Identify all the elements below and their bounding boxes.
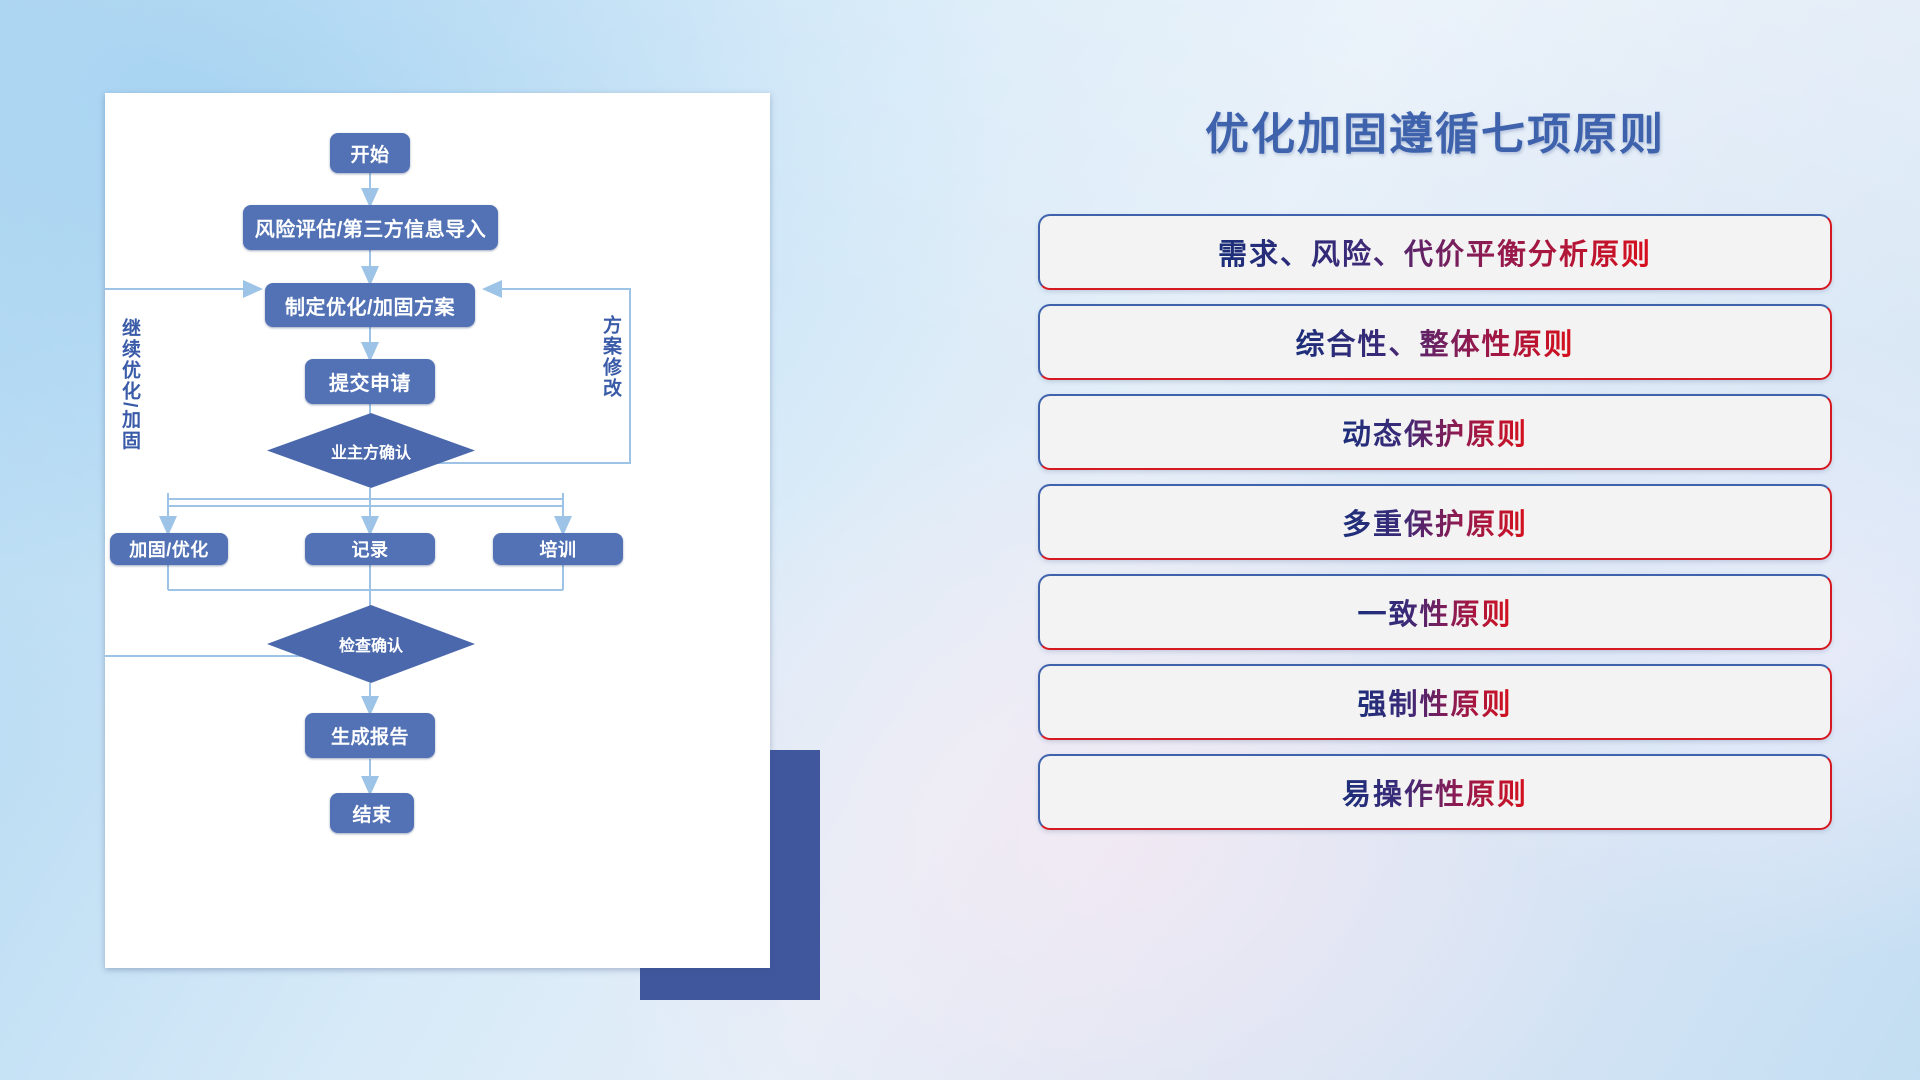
- flow-node-submit-application[interactable]: 提交申请: [305, 359, 435, 404]
- flow-node-label: 制定优化/加固方案: [285, 291, 455, 320]
- flow-node-label: 加固/优化: [129, 536, 209, 562]
- flow-node-training[interactable]: 培训: [493, 533, 623, 565]
- flow-node-start[interactable]: 开始: [330, 133, 410, 173]
- principles-section: 优化加固遵循七项原则 需求、风险、代价平衡分析原则 综合性、整体性原则 动态保护…: [1020, 80, 1850, 1030]
- flow-edge-label-plan-revision: 方案修改: [600, 315, 620, 399]
- principles-title: 优化加固遵循七项原则: [1020, 98, 1850, 162]
- principle-card-7[interactable]: 易操作性原则: [1038, 754, 1832, 830]
- flow-edge-label-continue-optimize: 继续优化/加固: [119, 318, 139, 451]
- principle-card-6[interactable]: 强制性原则: [1038, 664, 1832, 740]
- principle-card-label: 动态保护原则: [1342, 411, 1528, 453]
- flow-node-label: 记录: [352, 536, 389, 562]
- principle-card-label: 强制性原则: [1357, 681, 1512, 723]
- principle-card-4[interactable]: 多重保护原则: [1038, 484, 1832, 560]
- flow-node-reinforce-optimize[interactable]: 加固/优化: [110, 533, 228, 565]
- principle-card-3[interactable]: 动态保护原则: [1038, 394, 1832, 470]
- principles-card-list: 需求、风险、代价平衡分析原则 综合性、整体性原则 动态保护原则 多重保护原则 一…: [1020, 214, 1850, 830]
- flow-node-label: 培训: [540, 536, 577, 562]
- flow-node-label: 结束: [352, 800, 391, 827]
- flow-node-label: 提交申请: [329, 367, 411, 396]
- flow-node-generate-report[interactable]: 生成报告: [305, 713, 435, 758]
- flow-node-label: 开始: [350, 140, 389, 167]
- principle-card-label: 一致性原则: [1357, 591, 1512, 633]
- principle-card-5[interactable]: 一致性原则: [1038, 574, 1832, 650]
- flow-node-label: 业主方确认: [331, 439, 411, 463]
- flow-node-label: 风险评估/第三方信息导入: [255, 213, 487, 242]
- principle-card-label: 需求、风险、代价平衡分析原则: [1218, 231, 1652, 273]
- principle-card-label: 多重保护原则: [1342, 501, 1528, 543]
- principle-card-1[interactable]: 需求、风险、代价平衡分析原则: [1038, 214, 1832, 290]
- flow-node-label: 生成报告: [331, 722, 409, 749]
- principle-card-label: 易操作性原则: [1342, 771, 1528, 813]
- flow-node-record[interactable]: 记录: [305, 533, 435, 565]
- principle-card-2[interactable]: 综合性、整体性原则: [1038, 304, 1832, 380]
- principle-card-label: 综合性、整体性原则: [1295, 321, 1574, 363]
- flow-node-plan[interactable]: 制定优化/加固方案: [265, 283, 475, 327]
- flow-node-risk-assessment[interactable]: 风险评估/第三方信息导入: [243, 205, 498, 250]
- flow-node-end[interactable]: 结束: [330, 793, 414, 833]
- flow-node-label: 检查确认: [339, 632, 403, 656]
- flowchart-panel: 开始 风险评估/第三方信息导入 制定优化/加固方案 提交申请 业主方确认 加固/…: [105, 93, 770, 968]
